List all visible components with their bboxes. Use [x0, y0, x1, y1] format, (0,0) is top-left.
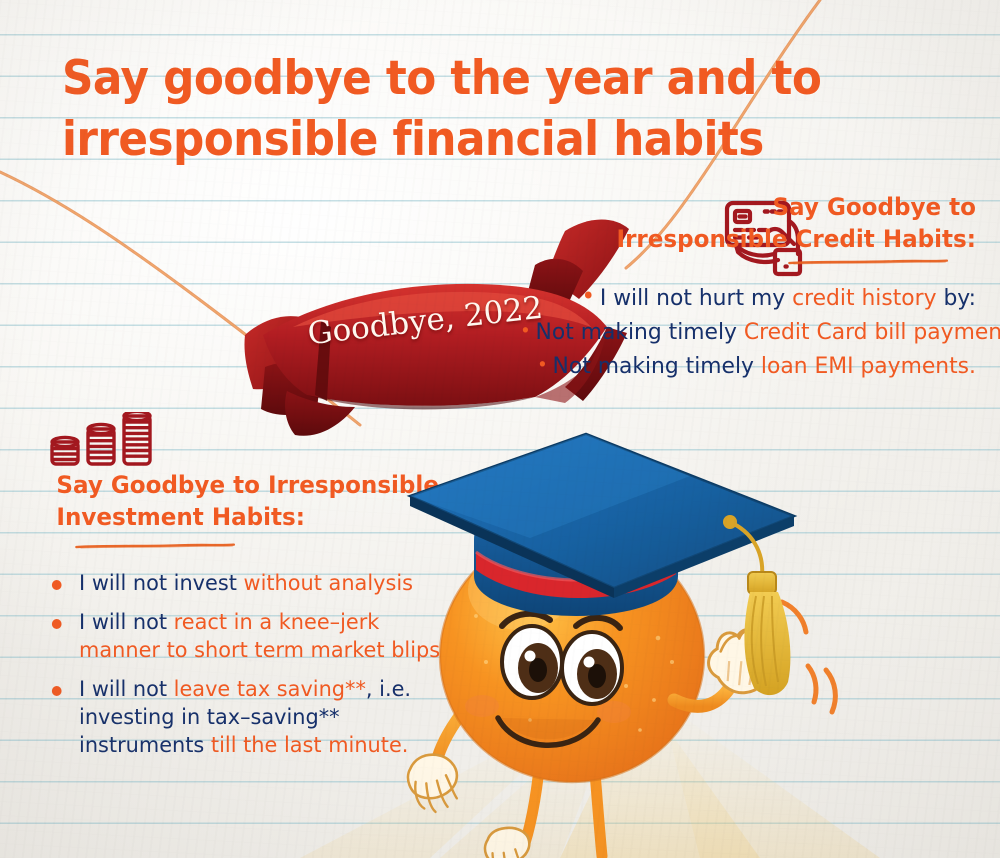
heading-underline-stroke: [48, 543, 263, 549]
credit-habits-section: Say Goodbye to Irresponsible Credit Habi…: [506, 192, 976, 384]
text-fragment-navy: I will not: [79, 677, 174, 702]
page-title-line-1: Say goodbye to the year and to: [62, 49, 787, 109]
text-fragment-navy: Not making timely: [536, 319, 744, 345]
text-fragment-orange: without analysis: [244, 571, 413, 596]
page-title-line-2: irresponsible financial habits: [62, 110, 787, 170]
credit-list-item: •Not making timely loan EMI payments.: [520, 349, 976, 383]
text-fragment-orange: Credit Card bill payments: [744, 319, 1000, 345]
bullet-dot-icon: •: [581, 282, 595, 310]
text-fragment-orange: loan EMI payments.: [761, 353, 976, 379]
page-title: Say goodbye to the year and to irrespons…: [62, 49, 787, 169]
bullet-dot-icon: •: [520, 321, 531, 342]
credit-heading-line-2: Irresponsible Credit Habits:: [525, 224, 976, 256]
text-fragment-orange: till the last minute.: [204, 733, 408, 758]
credit-section-heading: Say Goodbye to Irresponsible Credit Habi…: [525, 192, 976, 256]
text-fragment-orange: credit history: [792, 285, 936, 311]
text-fragment-navy: I will not invest: [79, 571, 243, 596]
credit-heading-line-1: Say Goodbye to: [525, 192, 976, 224]
text-fragment-navy: I will not hurt my: [600, 285, 792, 311]
infographic-canvas: Say goodbye to the year and to irrespons…: [0, 0, 1000, 858]
credit-heading-underline-wrap: [506, 256, 976, 265]
orange-mascot: [390, 400, 910, 858]
text-fragment-navy: Not making timely: [553, 353, 761, 379]
coin-stacks-icon: [48, 412, 158, 471]
credit-list-item: •I will not hurt my credit history by:: [520, 279, 976, 315]
text-fragment-navy: I will not: [79, 610, 174, 635]
bullet-dot-icon: •: [537, 355, 548, 376]
credit-list-item: •Not making timely Credit Card bill paym…: [520, 315, 976, 349]
text-fragment-orange: leave tax saving**: [174, 677, 366, 702]
heading-underline-stroke: [761, 259, 976, 265]
credit-habits-list: •I will not hurt my credit history by:•N…: [506, 279, 976, 384]
text-fragment-navy: by:: [937, 285, 976, 311]
